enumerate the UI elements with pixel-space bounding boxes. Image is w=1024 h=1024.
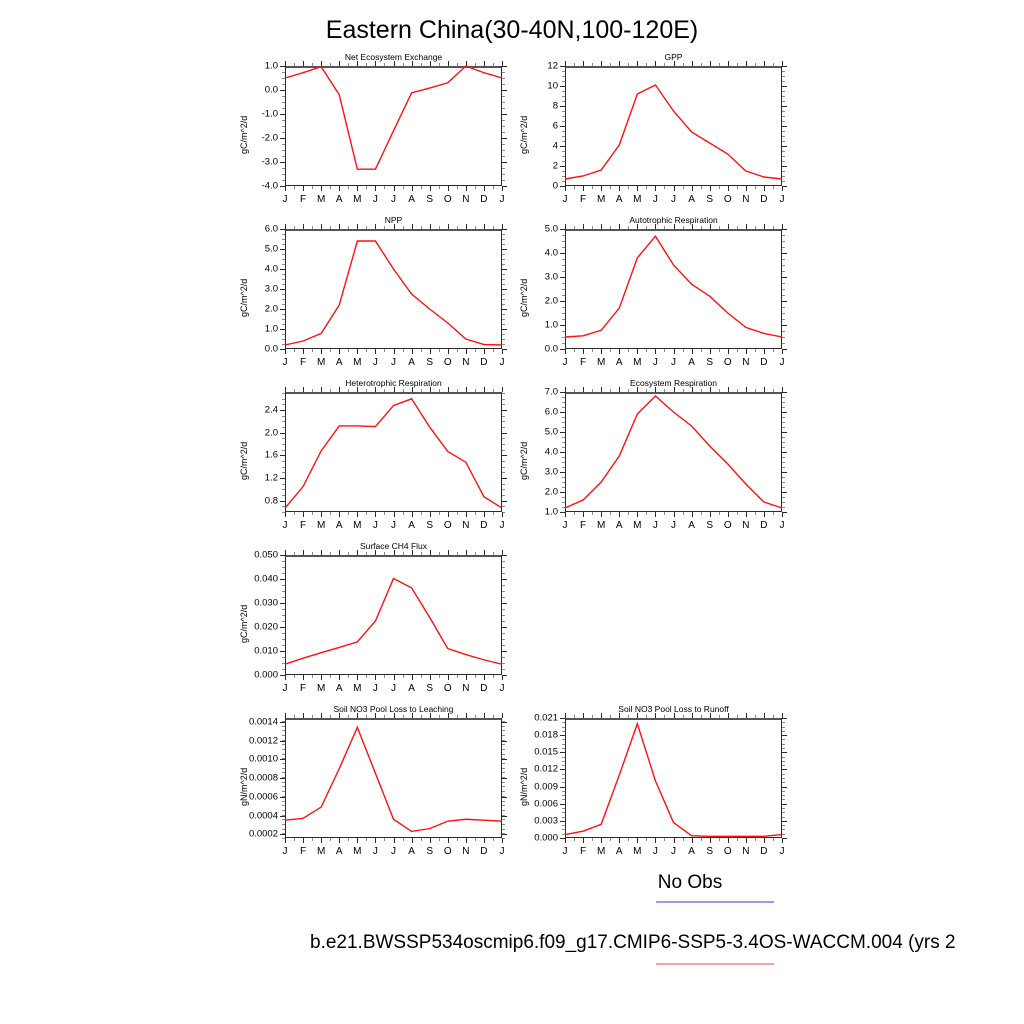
- series-layer: [505, 704, 802, 870]
- chart-panel: Soil NO3 Pool Loss to RunoffgN/m^2/d0.02…: [505, 704, 802, 870]
- chart-panel: Net Ecosystem ExchangegC/m^2/d1.00.0-1.0…: [225, 52, 522, 218]
- data-series-line: [285, 579, 502, 665]
- data-series-line: [565, 396, 782, 508]
- chart-panel: Soil NO3 Pool Loss to LeachinggN/m^2/d0.…: [225, 704, 522, 870]
- data-series-line: [285, 241, 502, 345]
- data-series-line: [285, 727, 502, 831]
- series-layer: [225, 215, 522, 381]
- chart-panel: Ecosystem RespirationgC/m^2/d7.06.05.04.…: [505, 378, 802, 544]
- series-layer: [225, 52, 522, 218]
- page-title: Eastern China(30-40N,100-120E): [0, 16, 1024, 45]
- chart-panel: GPPgC/m^2/d121086420JFMAMJJASONDJ: [505, 52, 802, 218]
- series-layer: [225, 378, 522, 544]
- series-layer: [505, 215, 802, 381]
- series-layer: [225, 541, 522, 707]
- chart-panel: Autotrophic RespirationgC/m^2/d5.04.03.0…: [505, 215, 802, 381]
- data-series-line: [565, 724, 782, 837]
- series-layer: [225, 704, 522, 870]
- data-series-line: [285, 399, 502, 508]
- chart-panel: Surface CH4 FluxgC/m^2/d0.0500.0400.0300…: [225, 541, 522, 707]
- series-layer: [505, 378, 802, 544]
- legend-model-line: [656, 963, 774, 965]
- legend-no-obs-line: [656, 901, 774, 903]
- data-series-line: [565, 85, 782, 179]
- series-layer: [505, 52, 802, 218]
- data-series-line: [565, 236, 782, 337]
- data-series-line: [285, 66, 502, 169]
- legend-no-obs-label: No Obs: [600, 872, 780, 894]
- footer-model-label: b.e21.BWSSP534oscmip6.f09_g17.CMIP6-SSP5…: [310, 932, 956, 954]
- chart-panel: Heterotrophic RespirationgC/m^2/d2.42.01…: [225, 378, 522, 544]
- chart-panel: NPPgC/m^2/d6.05.04.03.02.01.00.0JFMAMJJA…: [225, 215, 522, 381]
